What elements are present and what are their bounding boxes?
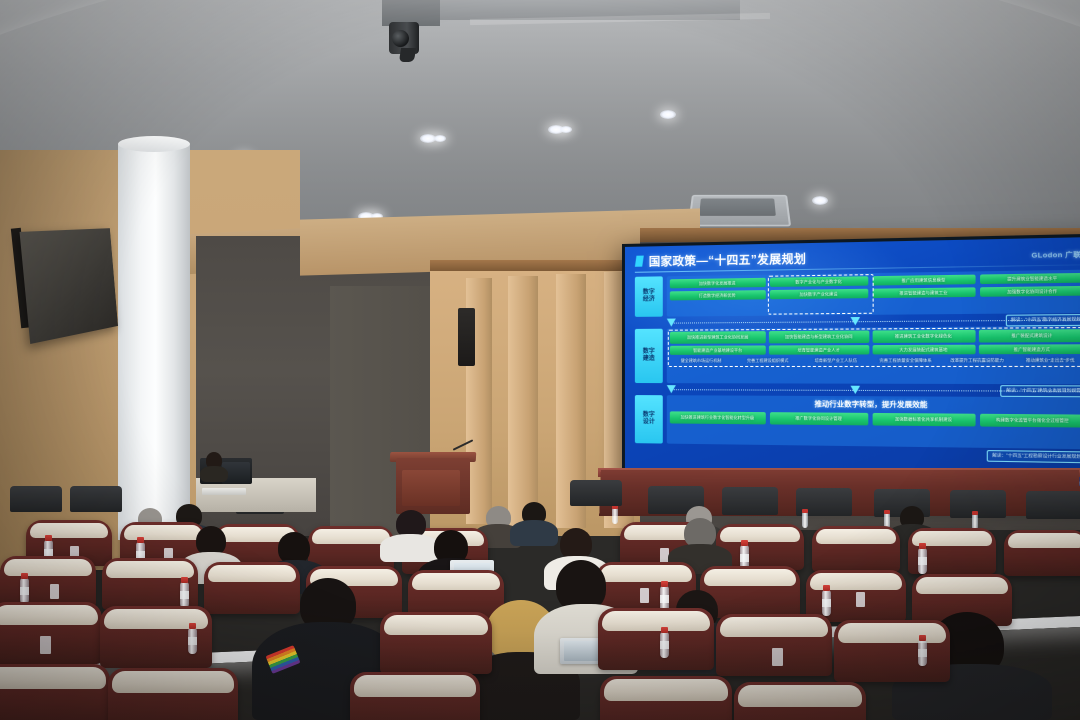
chip: 打造数字经济新优势 [670,290,765,300]
seat[interactable] [1004,530,1080,576]
water-bottle [180,582,189,608]
desk-chair[interactable] [950,490,1006,518]
highlight-dashed-box [768,274,874,315]
highlight-dashed-box [668,327,1080,367]
brand-logo: GLodon 广联达 [1032,247,1080,259]
downlight [434,135,446,142]
seat[interactable] [834,620,950,682]
chip: 加强数据标准化共享机制建设 [873,413,975,427]
downlight [660,110,676,119]
seat[interactable] [598,608,714,670]
band-tag-3: 解读：“十四五”工程勘察设计行业发展规划 [987,450,1080,463]
slide-band-2: 数字 建造 加快推进新型建筑工业化协同发展 加快智能建造与新型建筑工业化协同 推… [635,326,1080,384]
seat[interactable] [734,682,866,720]
wall-speaker [458,308,475,366]
seat[interactable] [812,526,900,572]
band-label-text: 数字 [643,349,655,356]
band-body-3: 推动行业数字转型，提升发展效能 加快推进建筑行业数字化智能化转型升级 推广数字化… [667,395,1080,449]
seat[interactable] [716,614,832,676]
screen-surface: 国家政策—“十四五”发展规划 GLodon 广联达 数字 经济 加快数字化发展推… [625,237,1080,497]
band-label-text: 设计 [643,419,655,426]
water-bottle [20,578,29,604]
water-bottle [918,548,927,574]
laptop-screen [564,641,598,661]
chip: 提升建筑业智能建造水平 [979,273,1080,284]
wall-wood-trim [430,260,646,271]
water-bottle [660,632,669,658]
chip-grid-3: 加快推进建筑行业数字化智能化转型升级 推广数字化协同设计管理 加强数据标准化共享… [670,411,1080,427]
led-display-screen[interactable]: 国家政策—“十四五”发展规划 GLodon 广联达 数字 经济 加快数字化发展推… [622,234,1080,501]
seat[interactable] [0,556,96,608]
seat[interactable] [350,672,480,720]
chip: 加快数字化发展推进 [670,278,765,289]
band-label-1: 数字 经济 [635,276,663,317]
band-label-text: 建造 [643,356,655,363]
seat-tag [40,636,51,654]
keyboard[interactable] [202,488,246,495]
auditorium-scene: 国家政策—“十四五”发展规划 GLodon 广联达 数字 经济 加快数字化发展推… [0,0,1080,720]
audience-body [510,520,558,546]
slide-band-1: 数字 经济 加快数字化发展推进 数字产业化与产业数字化 推广应用建筑信息模型 提… [635,270,1080,317]
desk-chair[interactable] [70,486,122,512]
seat-tag [50,584,59,599]
water-bottle [822,590,831,616]
wall-fin [508,276,538,526]
desk-chair[interactable] [10,486,62,512]
chip: 推广应用建筑信息模型 [873,275,975,286]
camera-lens-icon [392,30,409,47]
connector-dotted-line [671,319,1080,323]
slide-band-3: 数字 设计 推动行业数字转型，提升发展效能 加快推进建筑行业数字化智能化转型升级… [635,395,1080,449]
water-bottle [612,508,618,524]
podium-front-panel [402,470,460,506]
presentation-slide: 国家政策—“十四五”发展规划 GLodon 广联达 数字 经济 加快数字化发展推… [635,244,1080,489]
band-label-text: 经济 [643,297,655,304]
seat[interactable] [204,562,300,614]
water-bottle [802,512,808,528]
desk-chair[interactable] [722,487,778,515]
band-headline: 推动行业数字转型，提升发展效能 [670,398,1080,411]
seat[interactable] [108,668,238,720]
chip: 推广数字化协同设计管理 [769,412,868,425]
band-body-2: 加快推进新型建筑工业化协同发展 加快智能建造与新型建筑工业化协同 推进建筑工业化… [667,326,1080,384]
chip: 加强数字化协同设计合作 [979,286,1080,297]
seat[interactable] [0,602,102,664]
seat-tag [856,592,865,607]
column-cap [118,136,190,152]
band-label-2: 数字 建造 [635,329,663,383]
audience-body [380,534,440,562]
chip: 构建数字化监管平台强化全过程管控 [979,414,1080,428]
desk-chair[interactable] [570,480,622,506]
seat[interactable] [0,664,110,720]
seat-tag [772,648,783,666]
chip: 推进智能建造与建筑工业 [873,287,975,298]
water-bottle [188,628,197,654]
downlight [560,126,572,133]
seat-tag [640,588,649,603]
title-marker-icon [635,256,644,267]
band-body-1: 加快数字化发展推进 数字产业化与产业数字化 推广应用建筑信息模型 提升建筑业智能… [667,270,1080,317]
band-connector-2 [665,385,1080,395]
seat[interactable] [600,676,732,720]
av-operator-body [200,466,228,482]
seat[interactable] [380,612,492,674]
wall-mounted-display[interactable] [20,228,118,344]
band-label-3: 数字 设计 [635,395,663,443]
chip: 加快推进建筑行业数字化智能化转型升级 [670,411,765,424]
slide-title: 国家政策—“十四五”发展规划 [649,250,806,269]
support-column [118,140,190,540]
connector-dotted-line [671,389,1080,392]
water-bottle [918,640,927,666]
desk-chair[interactable] [1026,491,1080,519]
ac-vent-grille [699,199,776,216]
chip-grid-1: 加快数字化发展推进 数字产业化与产业数字化 推广应用建筑信息模型 提升建筑业智能… [670,273,1080,301]
downlight [812,196,828,205]
